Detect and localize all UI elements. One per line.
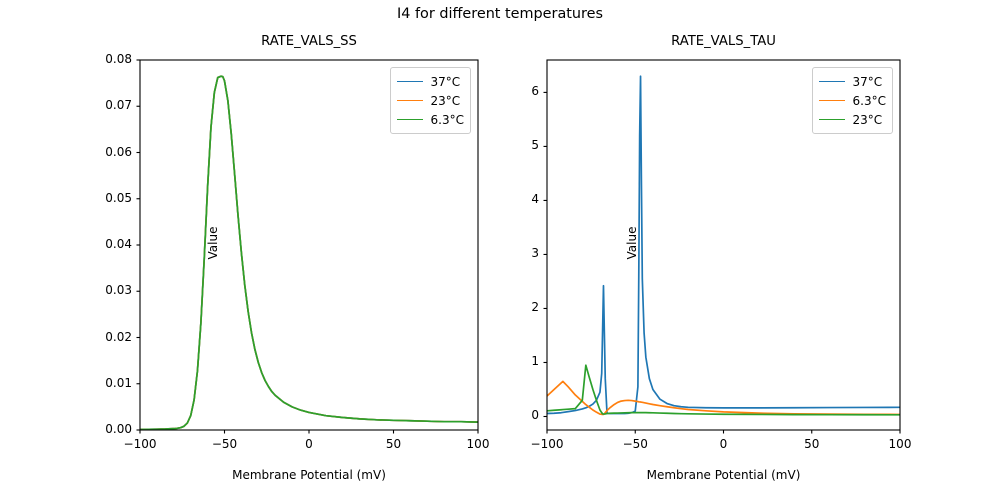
y-tick-label: 5: [475, 138, 539, 152]
x-tick-label: 100: [870, 437, 930, 451]
legend-entry[interactable]: 6.3°C: [819, 91, 886, 110]
y-tick-label: 2: [475, 300, 539, 314]
x-axis-label: Membrane Potential (mV): [547, 468, 900, 482]
y-tick-label: 3: [475, 246, 539, 260]
legend-entry[interactable]: 37°C: [819, 72, 886, 91]
legend-label: 23°C: [853, 113, 883, 127]
legend-line-swatch-icon: [819, 119, 845, 120]
legend-line-swatch-icon: [819, 81, 845, 82]
x-tick-label: −50: [605, 437, 665, 451]
axes-title-rate-vals-tau: RATE_VALS_TAU: [547, 34, 900, 49]
y-tick-label: 6: [475, 84, 539, 98]
x-tick-label: −100: [517, 437, 577, 451]
y-axis-label: Value: [625, 58, 639, 428]
subplot-rate-vals-tau: RATE_VALS_TAU−100−500501000123456Membran…: [0, 0, 1000, 500]
x-tick-label: 0: [694, 437, 754, 451]
legend-rate-vals-tau[interactable]: 37°C6.3°C23°C: [812, 67, 893, 134]
y-tick-label: 0: [475, 408, 539, 422]
y-tick-label: 4: [475, 192, 539, 206]
x-tick-label: 50: [782, 437, 842, 451]
y-tick-label: 1: [475, 354, 539, 368]
legend-label: 37°C: [853, 75, 883, 89]
matplotlib-figure: I4 for different temperatures RATE_VALS_…: [0, 0, 1000, 500]
legend-label: 6.3°C: [853, 94, 886, 108]
legend-entry[interactable]: 23°C: [819, 110, 886, 129]
legend-line-swatch-icon: [819, 100, 845, 101]
